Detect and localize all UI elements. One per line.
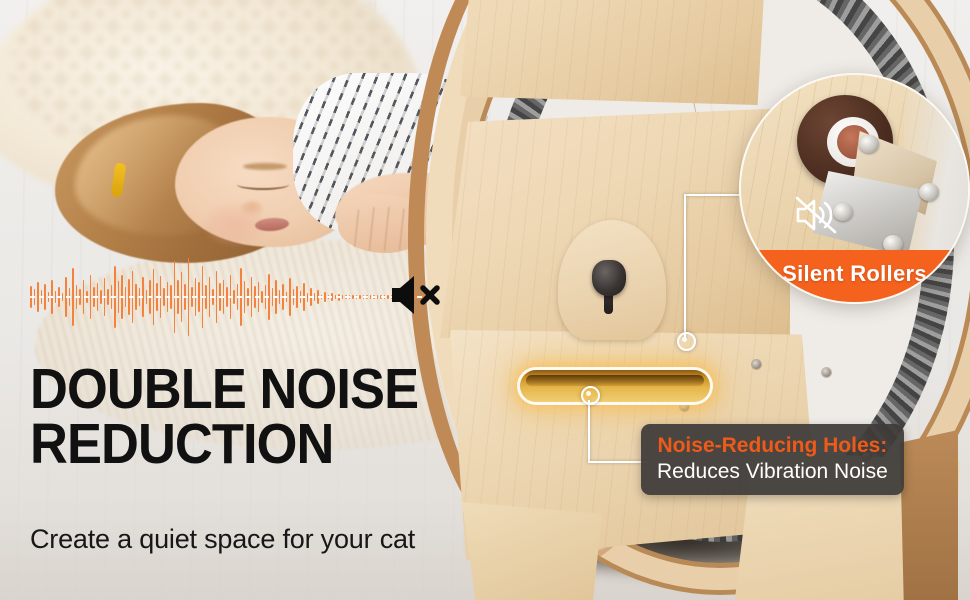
mute-speaker-icon xyxy=(390,272,442,318)
connector-line-vertical xyxy=(684,194,686,339)
screw xyxy=(752,360,761,369)
wheel-panel-top xyxy=(460,0,770,105)
connector-line-vertical xyxy=(588,400,590,462)
caster-bolt xyxy=(919,183,939,201)
wheel-foot-left xyxy=(462,502,602,600)
page-subtitle: Create a quiet space for your cat xyxy=(30,524,415,555)
callout-title: Noise-Reducing Holes: xyxy=(657,433,888,459)
headline-line-1: DOUBLE NOISE xyxy=(30,362,462,417)
silent-rollers-inset: Silent Rollers xyxy=(739,73,970,304)
silent-rollers-banner: Silent Rollers xyxy=(741,250,968,302)
connector-dot-silent-rollers xyxy=(677,332,696,351)
adjustment-knob[interactable] xyxy=(592,260,626,296)
promo-banner: Silent Rollers DOUBLE NOISE REDUCTION Cr… xyxy=(0,0,970,600)
noise-reducing-hole xyxy=(520,370,710,402)
screw xyxy=(822,368,831,377)
silent-rollers-label: Silent Rollers xyxy=(782,261,927,287)
connector-dot-noise-holes xyxy=(581,386,600,405)
noise-reducing-holes-callout: Noise-Reducing Holes: Reduces Vibration … xyxy=(641,424,904,495)
sound-waveform xyxy=(30,258,430,336)
callout-subtitle: Reduces Vibration Noise xyxy=(657,459,888,485)
headline-line-2: REDUCTION xyxy=(30,417,462,472)
wood-grain xyxy=(460,0,770,105)
noise-reducing-hole-inner xyxy=(526,375,704,386)
girl-closed-eye xyxy=(237,179,289,190)
mute-speaker-icon xyxy=(793,195,839,235)
waveform-center-line xyxy=(30,296,430,298)
connector-line-horizontal xyxy=(684,194,746,196)
caster-bolt xyxy=(859,135,879,153)
girl-eyebrow xyxy=(243,163,287,170)
page-title: DOUBLE NOISE REDUCTION xyxy=(30,362,462,471)
wheel-foot-right-edge xyxy=(900,430,958,600)
screw xyxy=(680,402,689,411)
girl-nose xyxy=(241,201,263,215)
